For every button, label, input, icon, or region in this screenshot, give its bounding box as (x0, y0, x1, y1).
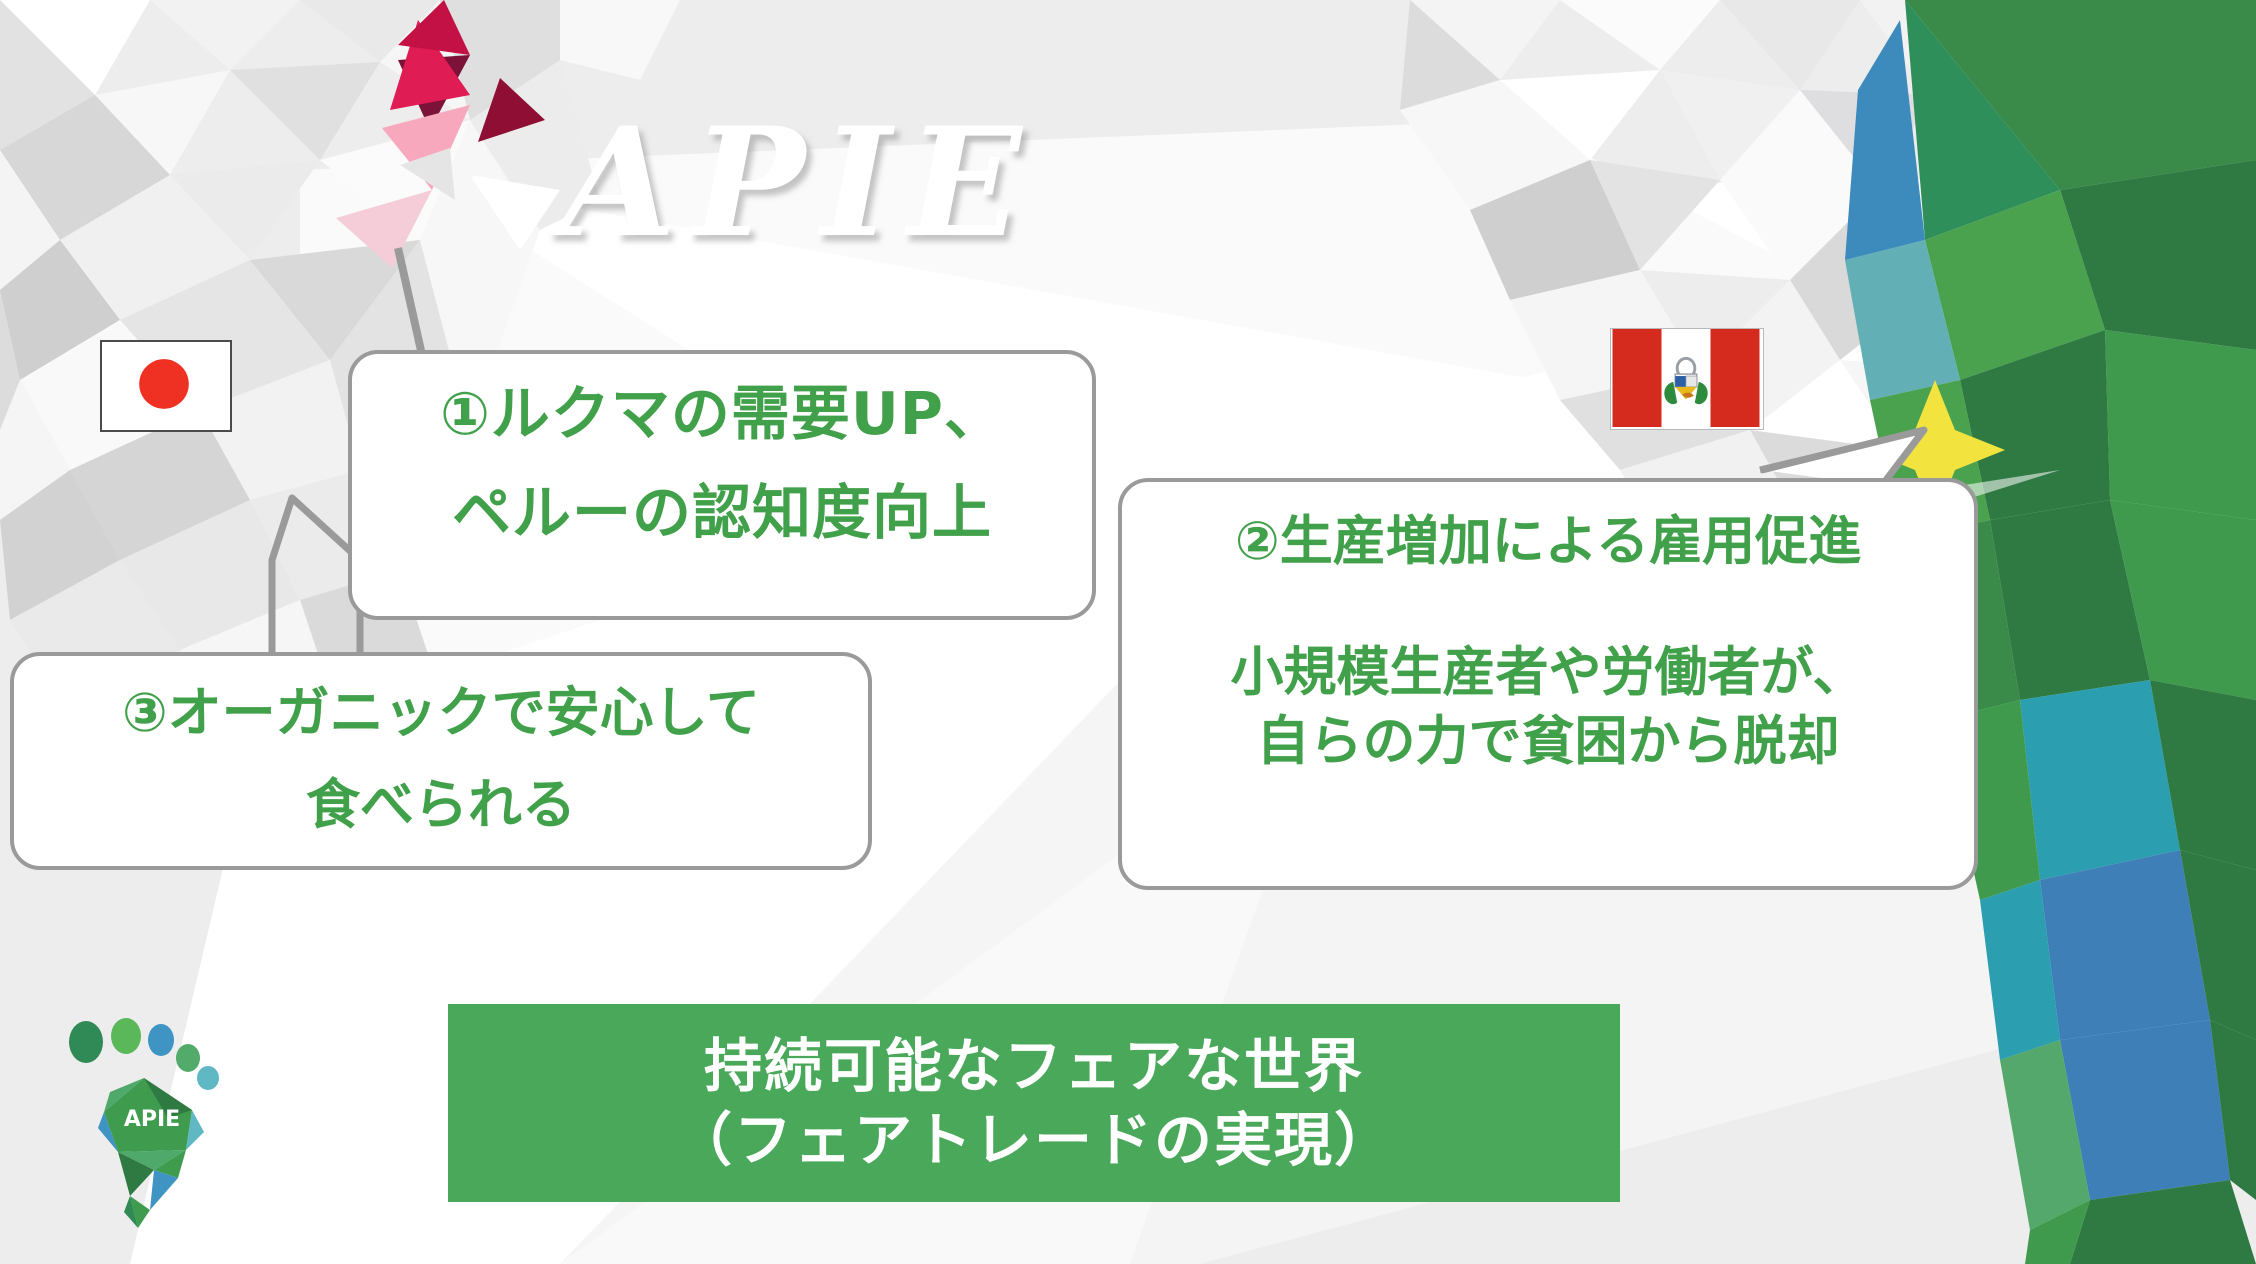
banner-line-1: 持続可能なフェアな世界 (704, 1029, 1364, 1103)
speech-bubble-2: ②生産増加による雇用促進 小規模生産者や労働者が、 自らの力で貧困から脱却 (1118, 478, 1978, 890)
japan-flag-svg (102, 342, 226, 426)
bubble-3-line-1: ③オーガニックで安心して (14, 656, 868, 748)
conclusion-banner: 持続可能なフェアな世界 （フェアトレードの実現） (448, 1004, 1620, 1202)
speech-bubble-1: ①ルクマの需要UP、 ペルーの認知度向上 (348, 350, 1096, 620)
peru-flag (1610, 328, 1764, 430)
banner-line-2: （フェアトレードの実現） (674, 1103, 1394, 1177)
slide-canvas: APIE (0, 0, 2256, 1264)
bubble-2-line-2: 小規模生産者や労働者が、 (1122, 577, 1974, 708)
bubble-3-line-2: 食べられる (14, 748, 868, 840)
apie-logo-svg: APIE (58, 1000, 238, 1230)
speech-bubble-3: ③オーガニックで安心して 食べられる (10, 652, 872, 870)
bubble-1-line-1: ①ルクマの需要UP、 (352, 354, 1092, 453)
apie-logo: APIE (58, 1000, 238, 1230)
peru-flag-svg (1611, 329, 1761, 427)
bubble-1-line-2: ペルーの認知度向上 (352, 453, 1092, 552)
bubble-2-line-1: ②生産増加による雇用促進 (1122, 482, 1974, 577)
japan-flag (100, 340, 232, 432)
bubble-2-line-3: 自らの力で貧困から脱却 (1122, 708, 1974, 777)
apie-logo-label: APIE (124, 1107, 180, 1132)
